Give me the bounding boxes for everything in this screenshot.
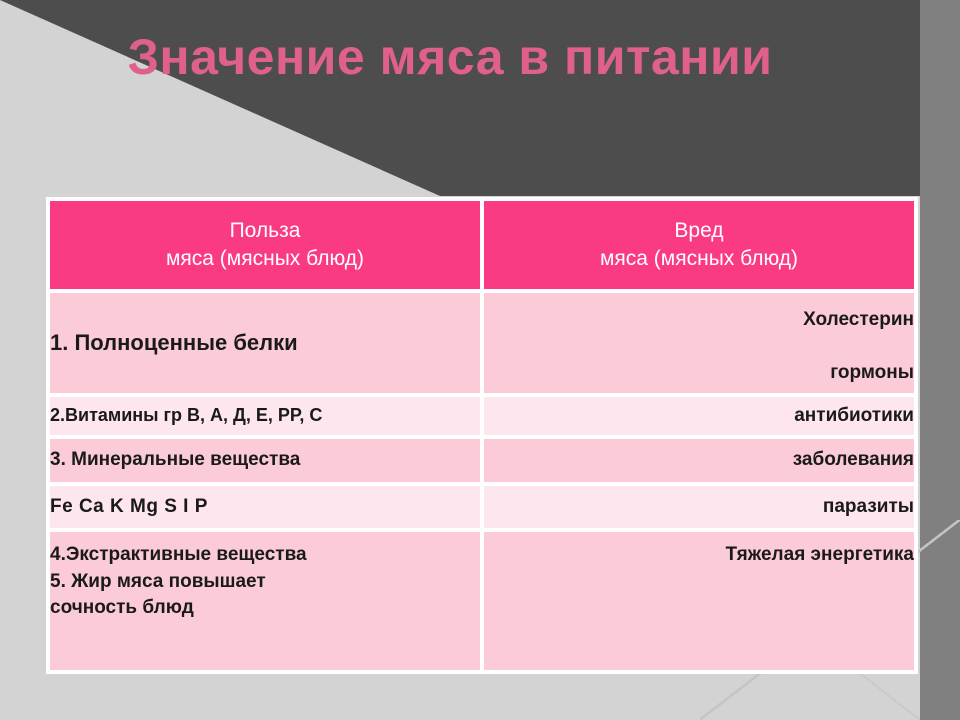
benefit-cell-2: 2.Витамины гр В, А, Д, Е, РР, С bbox=[48, 395, 482, 437]
page-title: Значение мяса в питании bbox=[0, 28, 900, 86]
benefit-cell-5-line2: 5. Жир мяса повышает bbox=[50, 569, 480, 596]
column-header-benefit: Польза мяса (мясных блюд) bbox=[48, 199, 482, 291]
benefit-cell-5: 4.Экстрактивные вещества 5. Жир мяса пов… bbox=[48, 530, 482, 672]
benefit-cell-5-line3: сочность блюд bbox=[50, 595, 480, 622]
benefit-cell-4: Fe Ca K Mg S I P bbox=[48, 484, 482, 530]
harm-cell-1-stack: Холестерин гормоны bbox=[484, 307, 914, 387]
column-header-harm-line2: мяса (мясных блюд) bbox=[484, 245, 914, 273]
column-header-harm: Вред мяса (мясных блюд) bbox=[482, 199, 916, 291]
table-row: 2.Витамины гр В, А, Д, Е, РР, С антибиот… bbox=[48, 395, 916, 437]
table-row: 3. Минеральные вещества заболевания bbox=[48, 437, 916, 484]
table-row: Fe Ca K Mg S I P паразиты bbox=[48, 484, 916, 530]
column-header-benefit-line1: Польза bbox=[50, 217, 480, 245]
benefit-cell-5-line1: 4.Экстрактивные вещества bbox=[50, 542, 480, 569]
harm-cell-1-top: Холестерин bbox=[484, 307, 914, 334]
harm-cell-1-bottom: гормоны bbox=[484, 360, 914, 387]
harm-cell-2: антибиотики bbox=[482, 395, 916, 437]
table-row: 4.Экстрактивные вещества 5. Жир мяса пов… bbox=[48, 530, 916, 672]
harm-cell-3: заболевания bbox=[482, 437, 916, 484]
benefit-cell-1: 1. Полноценные белки bbox=[48, 291, 482, 395]
column-header-harm-line1: Вред bbox=[484, 217, 914, 245]
benefit-cell-3: 3. Минеральные вещества bbox=[48, 437, 482, 484]
benefits-harms-table-wrapper: Польза мяса (мясных блюд) Вред мяса (мяс… bbox=[46, 197, 914, 674]
harm-cell-1: Холестерин гормоны bbox=[482, 291, 916, 395]
benefits-harms-table: Польза мяса (мясных блюд) Вред мяса (мяс… bbox=[46, 197, 918, 674]
column-header-benefit-line2: мяса (мясных блюд) bbox=[50, 245, 480, 273]
slide-canvas: Значение мяса в питании Польза мяса (мяс… bbox=[0, 0, 960, 720]
harm-cell-4: паразиты bbox=[482, 484, 916, 530]
table-row: 1. Полноценные белки Холестерин гормоны bbox=[48, 291, 916, 395]
table-header-row: Польза мяса (мясных блюд) Вред мяса (мяс… bbox=[48, 199, 916, 291]
harm-cell-5: Тяжелая энергетика bbox=[482, 530, 916, 672]
